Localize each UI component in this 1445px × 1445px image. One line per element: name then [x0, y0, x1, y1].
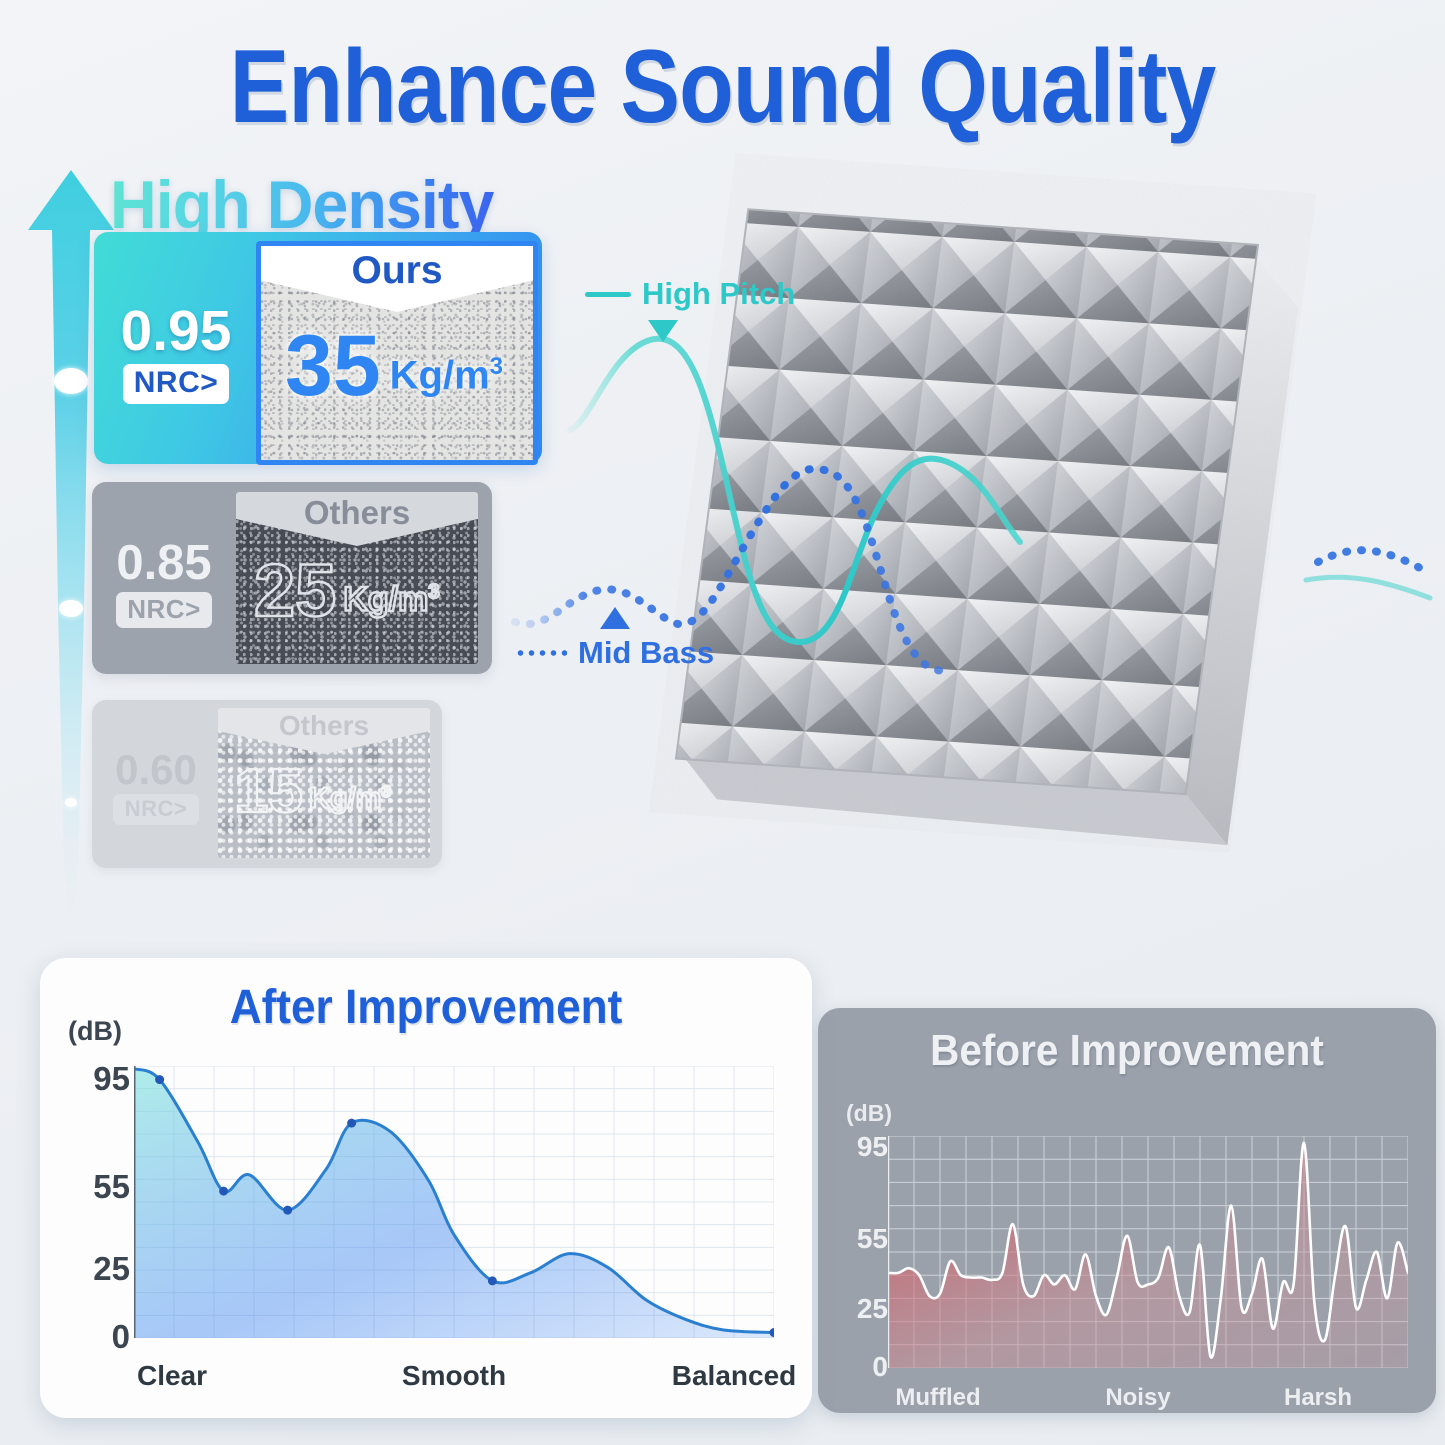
nrc-badge: NRC> — [123, 364, 229, 404]
density-unit: Kg/m3 — [303, 784, 391, 820]
brand-banner: Others — [218, 708, 430, 754]
x-tick-label: Harsh — [1228, 1384, 1408, 1412]
legend-high-pitch: High Pitch — [585, 276, 795, 312]
nrc-block: 0.60 NRC> — [104, 750, 208, 825]
arrow-marker-dot — [59, 600, 83, 617]
brand-banner: Others — [236, 492, 478, 546]
foam-texture-swatch: Others 25 Kg/m3 — [236, 492, 478, 664]
density-value: 35 Kg/m3 — [285, 328, 503, 405]
x-tick-label: Smooth — [354, 1360, 554, 1392]
density-value: 25 Kg/m3 — [254, 558, 439, 625]
x-tick-label: Noisy — [1048, 1384, 1228, 1412]
before-chart-title: Before Improvement — [843, 1026, 1412, 1076]
x-tick-label: Balanced — [634, 1360, 834, 1392]
legend-mid-bass-label: Mid Bass — [578, 635, 714, 671]
solid-line-swatch-icon — [585, 292, 631, 297]
brand-label: Others — [236, 494, 478, 532]
after-chart-plot — [134, 1066, 774, 1338]
brand-banner: Ours — [261, 246, 533, 312]
density-number: 15 — [234, 764, 303, 820]
y-tick-label: 25 — [60, 1250, 130, 1288]
after-y-axis-unit: (dB) — [68, 1016, 122, 1047]
arrow-marker-dot — [54, 368, 88, 394]
after-chart-title: After Improvement — [71, 980, 781, 1035]
sound-wave-graphic — [500, 250, 1445, 700]
y-tick-label: 55 — [828, 1223, 888, 1255]
foam-texture-swatch: Ours 35 Kg/m3 — [256, 241, 538, 465]
y-tick-label: 95 — [60, 1060, 130, 1098]
mid-bass-pointer-icon — [597, 604, 633, 632]
x-tick-label: Muffled — [848, 1384, 1028, 1412]
nrc-block: 0.95 NRC> — [112, 304, 240, 404]
y-tick-label: 95 — [828, 1131, 888, 1163]
before-chart-plot — [888, 1136, 1408, 1368]
nrc-value: 0.85 — [116, 540, 211, 587]
y-tick-label: 55 — [60, 1168, 130, 1206]
after-improvement-panel: After Improvement (dB) 9555250 ClearSmoo… — [40, 958, 812, 1418]
density-value: 15 Kg/m3 — [234, 764, 391, 820]
foam-texture-swatch: Others 15 Kg/m3 — [218, 708, 430, 858]
nrc-block: 0.85 NRC> — [106, 540, 222, 628]
nrc-value: 0.60 — [115, 750, 197, 790]
density-card-ours: 0.95 NRC> Ours 35 Kg/m3 — [94, 232, 542, 464]
density-number: 25 — [254, 558, 336, 625]
nrc-value: 0.95 — [121, 304, 232, 358]
brand-label: Others — [218, 710, 430, 742]
density-card-others-25: 0.85 NRC> Others 25 Kg/m3 — [92, 482, 492, 674]
brand-label: Ours — [261, 249, 533, 293]
dotted-line-swatch-icon — [515, 650, 567, 656]
y-tick-label: 0 — [828, 1351, 888, 1383]
x-tick-label: Clear — [72, 1360, 272, 1392]
legend-high-pitch-label: High Pitch — [642, 276, 795, 312]
density-number: 35 — [285, 328, 381, 405]
nrc-badge: NRC> — [113, 794, 199, 825]
y-tick-label: 0 — [60, 1318, 130, 1356]
arrow-marker-dot — [65, 798, 77, 807]
density-unit: Kg/m3 — [336, 583, 439, 625]
before-y-axis-unit: (dB) — [846, 1100, 892, 1127]
y-tick-label: 25 — [828, 1293, 888, 1325]
density-card-others-15: 0.60 NRC> Others 15 Kg/m3 — [92, 700, 442, 868]
legend-mid-bass: Mid Bass — [515, 635, 714, 671]
before-improvement-panel: Before Improvement (dB) 9555250 MuffledN… — [818, 1008, 1436, 1413]
density-unit: Kg/m3 — [381, 356, 503, 405]
nrc-badge: NRC> — [116, 592, 212, 628]
high-pitch-pointer-icon — [645, 318, 681, 346]
page-title: Enhance Sound Quality — [101, 28, 1344, 147]
